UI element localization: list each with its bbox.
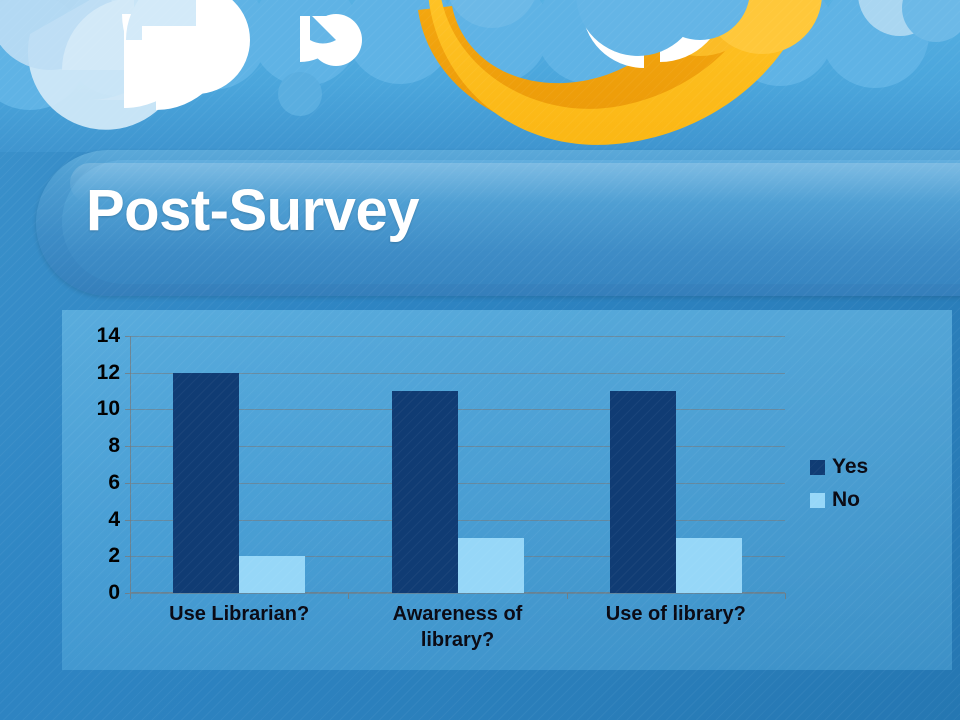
- legend-item-yes[interactable]: Yes: [810, 455, 940, 479]
- y-axis-tick-label: 0: [108, 581, 120, 605]
- y-axis-tick-label: 2: [108, 544, 120, 568]
- chart-legend: YesNo: [810, 455, 940, 521]
- y-axis-labels: 14121086420: [62, 336, 120, 593]
- bar-no-0: [239, 556, 305, 593]
- x-axis-tick: [567, 593, 568, 599]
- y-axis-tick-label: 8: [108, 434, 120, 458]
- legend-swatch-icon: [810, 460, 825, 475]
- decoration-shapes: [0, 0, 960, 152]
- y-axis-tick: [125, 556, 130, 557]
- legend-swatch-icon: [810, 493, 825, 508]
- y-axis-tick: [125, 483, 130, 484]
- gridline: [130, 593, 785, 594]
- gridline: [130, 336, 785, 337]
- y-axis-tick: [125, 446, 130, 447]
- x-axis-category-label: Use Librarian?: [134, 602, 344, 628]
- bar-yes-1: [392, 391, 458, 593]
- y-axis-tick: [125, 520, 130, 521]
- x-axis-tick: [348, 593, 349, 599]
- page-title: Post-Survey: [86, 177, 419, 244]
- slide: Post-Survey 14121086420 Use Librarian?Aw…: [0, 0, 960, 720]
- x-axis-tick-end-0: [130, 593, 131, 599]
- y-axis-line: [130, 336, 131, 593]
- legend-label: Yes: [832, 455, 868, 479]
- legend-label: No: [832, 488, 860, 512]
- y-axis-tick-label: 4: [108, 508, 120, 532]
- y-axis-tick-label: 10: [97, 397, 120, 421]
- plot-area: [130, 336, 785, 593]
- bar-yes-0: [173, 373, 239, 593]
- legend-item-no[interactable]: No: [810, 488, 940, 512]
- bar-no-1: [458, 538, 524, 593]
- x-axis-category-label: Awareness of library?: [352, 602, 562, 653]
- y-axis-tick-label: 14: [97, 324, 120, 348]
- y-axis-tick-label: 12: [97, 361, 120, 385]
- y-axis-tick: [125, 336, 130, 337]
- bar-chart: 14121086420 Use Librarian?Awareness of l…: [62, 310, 952, 710]
- y-axis-tick: [125, 373, 130, 374]
- x-axis-tick-end-1: [785, 593, 786, 599]
- y-axis-tick: [125, 409, 130, 410]
- slide-decoration-band: [0, 0, 960, 152]
- bar-no-2: [676, 538, 742, 593]
- y-axis-tick-label: 6: [108, 471, 120, 495]
- bar-yes-2: [610, 391, 676, 593]
- x-axis-category-label: Use of library?: [571, 602, 781, 628]
